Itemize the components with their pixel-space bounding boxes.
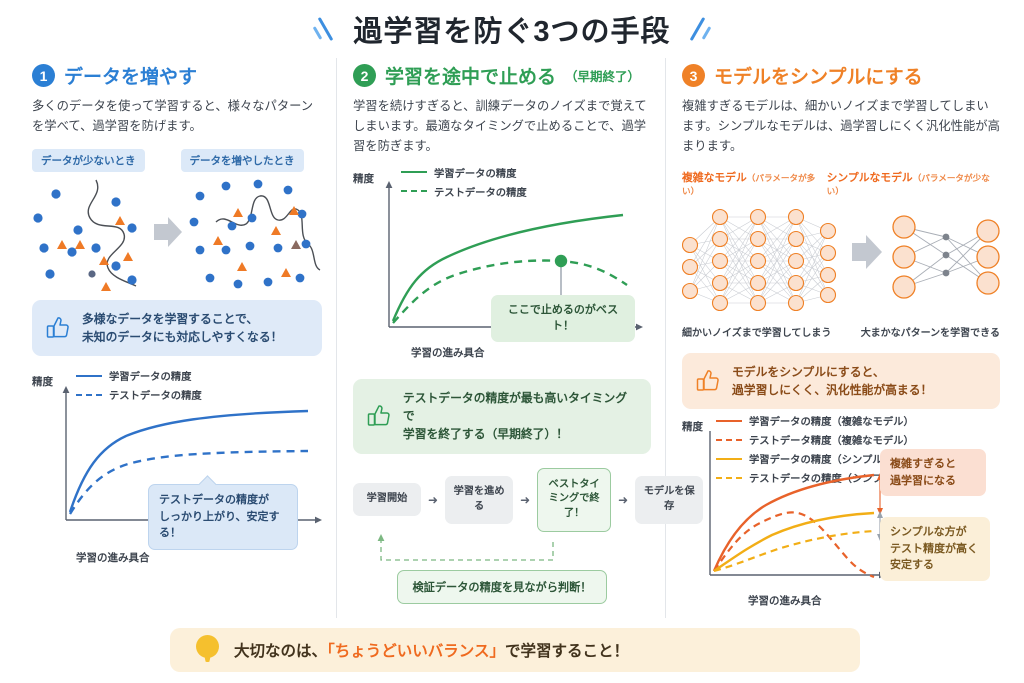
gray-arrow-icon xyxy=(154,217,182,247)
legend-line-solid-icon xyxy=(401,171,427,173)
nn-simple-label: シンプルなモデル（パラメータが少ない） xyxy=(827,169,1000,197)
chart1-y-arrowhead xyxy=(63,386,70,393)
badge-number-2: 2 xyxy=(353,64,376,87)
column1-heading: 1 データを増やす xyxy=(32,62,322,89)
flow-step-start: 学習開始 xyxy=(353,483,421,516)
chart2-annotation-bubble: ここで止めるのがベスト！ xyxy=(491,295,635,342)
legend-line-solid-icon xyxy=(716,420,742,422)
decision-boundary-left xyxy=(88,180,136,286)
thumbs-up-icon xyxy=(366,403,392,429)
orange-points-right xyxy=(213,206,301,277)
nn-simple-label-text: シンプルなモデル xyxy=(827,172,913,184)
flow-step-best-stop: ベストタイミングで終了！ xyxy=(537,468,611,532)
nn-section-labels: 複雑なモデル（パラメータが多い） シンプルなモデル（パラメータが少ない） xyxy=(682,169,1000,197)
chart1-x-arrowhead xyxy=(315,517,322,524)
column3-tip-text: モデルをシンプルにすると、 過学習しにくく、汎化性能が高まる！ xyxy=(732,363,932,400)
chart1-annotation-line1: テストデータの精度が xyxy=(159,494,269,506)
page-title: 過学習を防ぐ3つの手段 xyxy=(353,8,670,50)
column1-title: データを増やす xyxy=(64,62,197,89)
column2-subtitle: （早期終了） xyxy=(565,66,640,85)
chart3-note-overfit: 複雑すぎると 過学習になる xyxy=(880,449,986,496)
nn-complex-nodes xyxy=(683,209,836,310)
chart2-best-point-marker xyxy=(555,255,567,267)
scatter-diagram xyxy=(32,174,322,294)
column2-heading: 2 学習を途中で止める （早期終了） xyxy=(353,62,651,89)
column1-tip-text: 多様なデータを学習することで、 未知のデータにも対応しやすくなる！ xyxy=(82,310,282,347)
column3-tip-box: モデルをシンプルにすると、 過学習しにくく、汎化性能が高まる！ xyxy=(682,353,1000,410)
footer-text: 大切なのは、「ちょうどいいバランス」で学習すること！ xyxy=(234,639,629,661)
column3-title: モデルをシンプルにする xyxy=(714,62,923,89)
chart3-note-simple: シンプルな方が テスト精度が高く 安定する xyxy=(880,517,990,581)
chart2-y-arrowhead xyxy=(386,181,393,188)
column2-tip-text: テストデータの精度が最も高いタイミングで 学習を終了する（早期終了）！ xyxy=(403,389,638,444)
chart-increase-data: 精度 学習データの精度 テストデータの精度 xyxy=(32,370,322,565)
blue-points-left xyxy=(33,189,136,284)
chart2-legend-item-train: 学習データの精度 xyxy=(401,165,527,180)
lightbulb-icon xyxy=(196,635,219,665)
flow-feedback-loop xyxy=(363,534,633,568)
badge-number-3: 3 xyxy=(682,64,705,87)
infographic-page: 過学習を防ぐ3つの手段 1 データを増やす 多くのデータを使って学習すると、様々… xyxy=(0,0,1024,683)
chart2-legend-label-train: 学習データの精度 xyxy=(434,165,516,180)
page-header: 過学習を防ぐ3つの手段 xyxy=(0,0,1024,58)
chart-early-stopping: 精度 学習データの精度 テストデータの精度 xyxy=(353,169,651,369)
badge-number-1: 1 xyxy=(32,64,55,87)
thumbs-up-icon xyxy=(695,368,721,394)
chart-model-complexity: 精度 学習データの精度（複雑なモデル） テストデータ精度（複雑なモデル） 学習デ… xyxy=(682,417,1000,607)
flow-loop-note: 検証データの精度を見ながら判断！ xyxy=(397,570,606,604)
decision-boundary-right xyxy=(216,196,320,270)
thumbs-up-icon xyxy=(45,315,71,341)
chart1-annotation-bubble: テストデータの精度が しっかり上がり、安定する！ xyxy=(148,484,298,550)
column1-tip-line2: 未知のデータにも対応しやすくなる！ xyxy=(82,330,282,344)
nn-transition-arrow-icon xyxy=(852,235,882,269)
flow-arrow-icon: ➜ xyxy=(618,493,628,507)
nn-complex-label-text: 複雑なモデル xyxy=(682,172,747,184)
column1-description: 多くのデータを使って学習すると、様々なパターンを学べて、過学習を防げます。 xyxy=(32,97,322,137)
column3-tip-line2: 過学習しにくく、汎化性能が高まる！ xyxy=(732,383,932,397)
chart3-note-simple-line1: シンプルな方が xyxy=(890,526,967,538)
scatter-pill-labels: データが少ないとき データを増やしたとき xyxy=(32,149,322,172)
footer-suffix: で学習すること！ xyxy=(505,643,629,660)
nn-simple-group xyxy=(893,216,999,298)
flow-arrow-icon: ➜ xyxy=(428,493,438,507)
footer-highlight: 「ちょうどいいバランス」 xyxy=(327,643,505,660)
column3-description: 複雑すぎるモデルは、細かいノイズまで学習してしまいます。シンプルなモデルは、過学… xyxy=(682,97,1000,157)
column-early-stopping: 2 学習を途中で止める （早期終了） 学習を続けすぎると、訓練データのノイズまで… xyxy=(336,58,666,618)
chart3-note-overfit-line1: 複雑すぎると xyxy=(890,458,956,470)
column2-tip-line1: テストデータの精度が最も高いタイミングで xyxy=(403,391,627,423)
column1-tip-line1: 多様なデータを学習することで、 xyxy=(82,312,258,326)
chart3-test-simple-curve xyxy=(714,531,874,571)
column2-tip-box: テストデータの精度が最も高いタイミングで 学習を終了する（早期終了）！ xyxy=(353,379,651,454)
column1-tip-box: 多様なデータを学習することで、 未知のデータにも対応しやすくなる！ xyxy=(32,300,322,357)
scatter-svg xyxy=(32,174,324,294)
footer-banner: 大切なのは、「ちょうどいいバランス」で学習すること！ xyxy=(170,628,860,672)
pill-more-data: データを増やしたとき xyxy=(181,149,304,172)
nn-captions: 細かいノイズまで学習してしまう 大まかなパターンを学習できる xyxy=(682,324,1000,339)
legend-line-solid-icon xyxy=(76,375,102,377)
column2-description: 学習を続けすぎると、訓練データのノイズまで覚えてしまいます。最適なタイミングで止… xyxy=(353,97,651,157)
chart2-x-arrowhead xyxy=(636,323,643,330)
chart2-x-axis-label: 学習の進み具合 xyxy=(411,345,485,360)
blue-points-right xyxy=(190,179,311,288)
chart3-x-axis-label: 学習の進み具合 xyxy=(748,593,822,608)
slash-decoration-left-icon xyxy=(313,14,339,44)
column-simplify-model: 3 モデルをシンプルにする 複雑すぎるモデルは、細かいノイズまで学習してしまいま… xyxy=(666,58,1010,618)
nn-simple-caption: 大まかなパターンを学習できる xyxy=(861,324,1000,339)
scatter-left-plot xyxy=(33,180,136,291)
early-stopping-flow: 学習開始 ➜ 学習を進める ➜ ベストタイミングで終了！ ➜ モデルを保存 xyxy=(353,468,651,532)
chart3-note-simple-line2: テスト精度が高く xyxy=(890,543,978,555)
neural-network-diagram xyxy=(682,199,1000,321)
footer-prefix: 大切なのは、 xyxy=(234,643,327,660)
chart3-note-overfit-line2: 過学習になる xyxy=(890,475,956,487)
flow-arrow-icon: ➜ xyxy=(520,493,530,507)
chart1-legend-item-train: 学習データの精度 xyxy=(76,368,202,383)
pill-few-data: データが少ないとき xyxy=(32,149,145,172)
chart1-x-axis-label: 学習の進み具合 xyxy=(76,550,150,565)
column3-tip-line1: モデルをシンプルにすると、 xyxy=(732,365,885,379)
nn-complex-caption: 細かいノイズまで学習してしまう xyxy=(682,324,831,339)
column2-tip-line2: 学習を終了する（早期終了）！ xyxy=(403,427,568,441)
chart3-note-simple-line3: 安定する xyxy=(890,559,934,571)
column3-heading: 3 モデルをシンプルにする xyxy=(682,62,1000,89)
columns-container: 1 データを増やす 多くのデータを使って学習すると、様々なパターンを学べて、過学… xyxy=(0,58,1024,618)
nn-complex-label: 複雑なモデル（パラメータが多い） xyxy=(682,169,827,197)
slash-decoration-right-icon xyxy=(685,14,711,44)
loop-arrowhead xyxy=(378,534,385,541)
chart1-annotation-line2: しっかり上がり、安定する！ xyxy=(159,511,280,540)
scatter-right-plot xyxy=(190,179,320,288)
column-increase-data: 1 データを増やす 多くのデータを使って学習すると、様々なパターンを学べて、過学… xyxy=(14,58,336,618)
column2-title: 学習を途中で止める xyxy=(385,62,556,89)
chart1-legend-label-train: 学習データの精度 xyxy=(109,368,191,383)
transition-arrow-group xyxy=(154,217,182,247)
flow-step-progress: 学習を進める xyxy=(445,476,513,524)
chart3-train-complex-curve xyxy=(714,475,874,571)
